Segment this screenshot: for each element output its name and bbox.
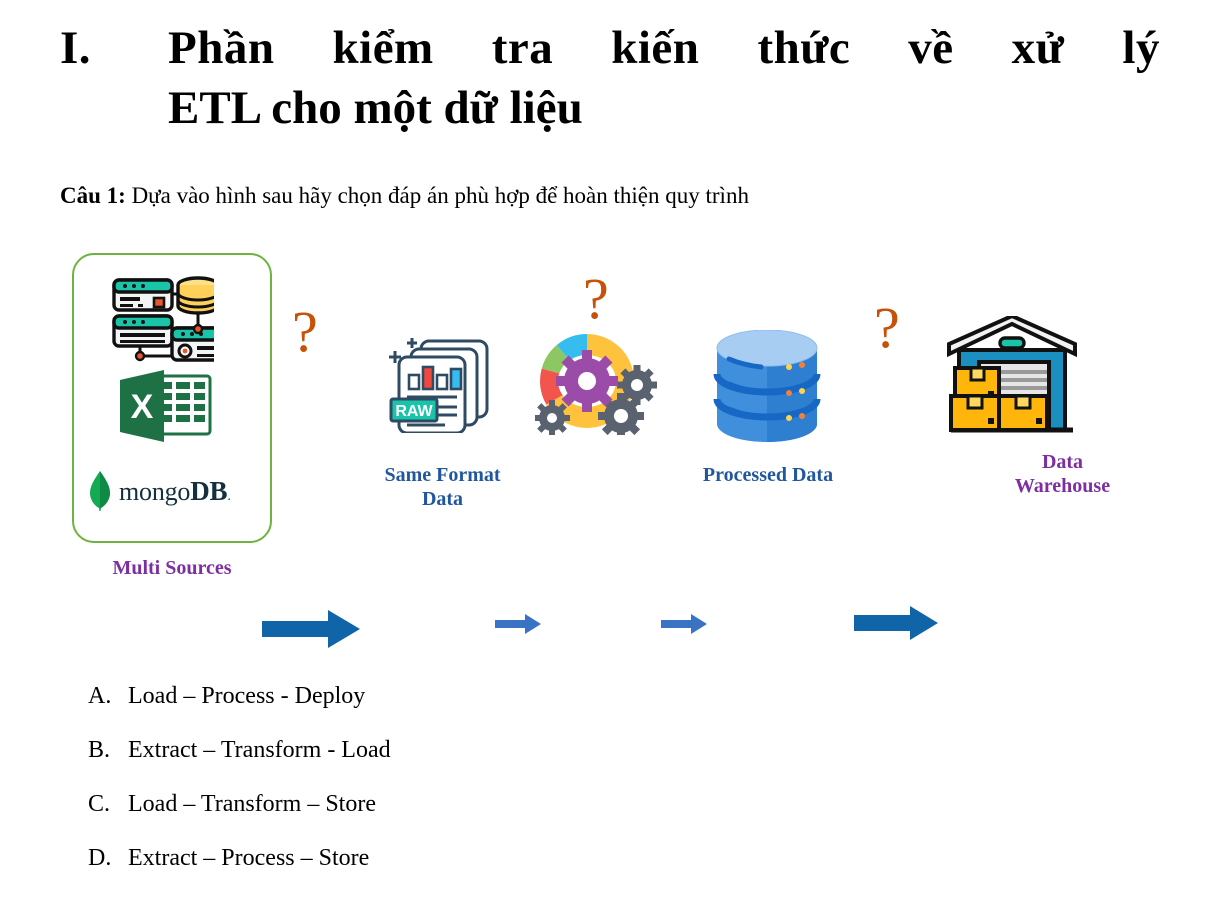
answer-option-a-text: Load – Process - Deploy [128,684,365,708]
database-cylinder-icon [707,330,827,447]
label-processed-data: Processed Data [673,463,863,487]
question-label: Câu 1: [60,183,126,208]
excel-file-icon: X [120,370,212,447]
title-word: về [908,18,953,78]
answer-option-a-letter: A. [88,684,128,708]
mongodb-text-db: DB [190,476,227,506]
title-word: tra [492,18,554,78]
label-same-format-line2: Data [360,487,525,511]
arrow-sources-to-format [262,610,360,653]
answer-option-d-letter: D. [88,846,128,870]
title-word: kiến [611,18,699,78]
mongodb-text-dot: . [227,489,230,504]
label-multi-sources: Multi Sources [72,556,272,580]
title-word: xử [1012,18,1065,78]
answer-option-c-letter: C. [88,792,128,816]
label-same-format-data: Same Format Data [360,463,525,512]
warehouse-icon [945,316,1079,445]
arrow-data-to-warehouse [854,606,938,645]
label-data-warehouse-line1: Data [955,450,1170,474]
server-network-icon [110,272,214,369]
answer-option-b-letter: B. [88,738,128,762]
page-title: I. Phần kiểm tra kiến thức về xử lý ETL … [60,18,1160,138]
title-word: lý [1122,18,1160,78]
arrow-format-to-process [495,612,541,641]
title-line-1: I. Phần kiểm tra kiến thức về xử lý [60,18,1160,78]
question-text: Dựa vào hình sau hãy chọn đáp án phù hợp… [132,183,749,208]
excel-letter: X [131,388,154,426]
mongodb-text-mongo: mongo [119,477,190,506]
title-number: I. [60,18,168,78]
answer-option-b-text: Extract – Transform - Load [128,738,391,762]
label-data-warehouse-line2: Warehouse [955,474,1170,498]
mongodb-leaf-icon [88,470,112,512]
etl-pipeline-diagram: X mongoDB. Multi Sources ? [0,238,1212,598]
title-word: kiểm [333,18,434,78]
title-line-1-text: Phần kiểm tra kiến thức về xử lý [168,18,1160,78]
processing-gears-icon [535,323,660,440]
label-data-warehouse: Data Warehouse [955,450,1170,499]
arrow-process-to-data [661,612,707,641]
answer-option-b[interactable]: B. Extract – Transform - Load [88,738,788,762]
mongodb-logo: mongoDB. [88,470,231,512]
question-prompt: Câu 1: Dựa vào hình sau hãy chọn đáp án … [60,183,749,209]
title-word: Phần [168,18,275,78]
raw-documents-icon: RAW [385,333,497,438]
answer-option-d-text: Extract – Process – Store [128,846,369,870]
question-mark-icon-1: ? [292,303,318,361]
answer-option-c-text: Load – Transform – Store [128,792,376,816]
answer-option-a[interactable]: A. Load – Process - Deploy [88,684,788,708]
title-line-2: ETL cho một dữ liệu [60,78,1160,138]
mongodb-wordmark: mongoDB. [119,476,231,507]
question-mark-icon-3: ? [874,299,900,357]
title-word: thức [757,18,850,78]
answer-option-c[interactable]: C. Load – Transform – Store [88,792,788,816]
label-same-format-line1: Same Format [360,463,525,487]
question-mark-icon-2: ? [583,270,609,328]
answer-options-list: A. Load – Process - Deploy B. Extract – … [88,684,788,900]
raw-badge-label: RAW [395,403,433,420]
answer-option-d[interactable]: D. Extract – Process – Store [88,846,788,870]
